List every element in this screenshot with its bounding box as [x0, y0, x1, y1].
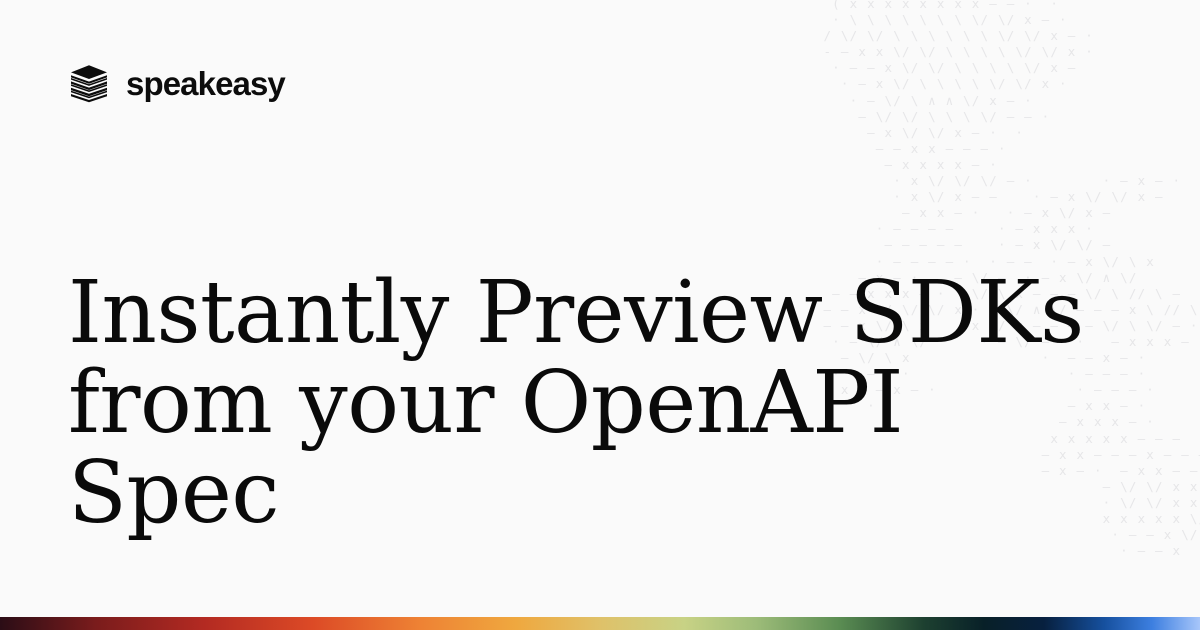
rainbow-gradient-bar — [0, 617, 1200, 630]
brand-wordmark: speakeasy — [126, 67, 285, 100]
og-card: ( x x x x x x x x — — · · · \ \ \ \ \ \ … — [0, 0, 1200, 630]
stacked-books-icon — [68, 62, 110, 104]
page-title: Instantly Preview SDKs from your OpenAPI… — [68, 268, 1068, 538]
headline-line-1: Instantly Preview SDKs — [68, 268, 1068, 358]
headline-line-3: Spec — [68, 448, 1068, 538]
brand-logo[interactable]: speakeasy — [68, 62, 285, 104]
headline-line-2: from your OpenAPI — [68, 358, 1068, 448]
